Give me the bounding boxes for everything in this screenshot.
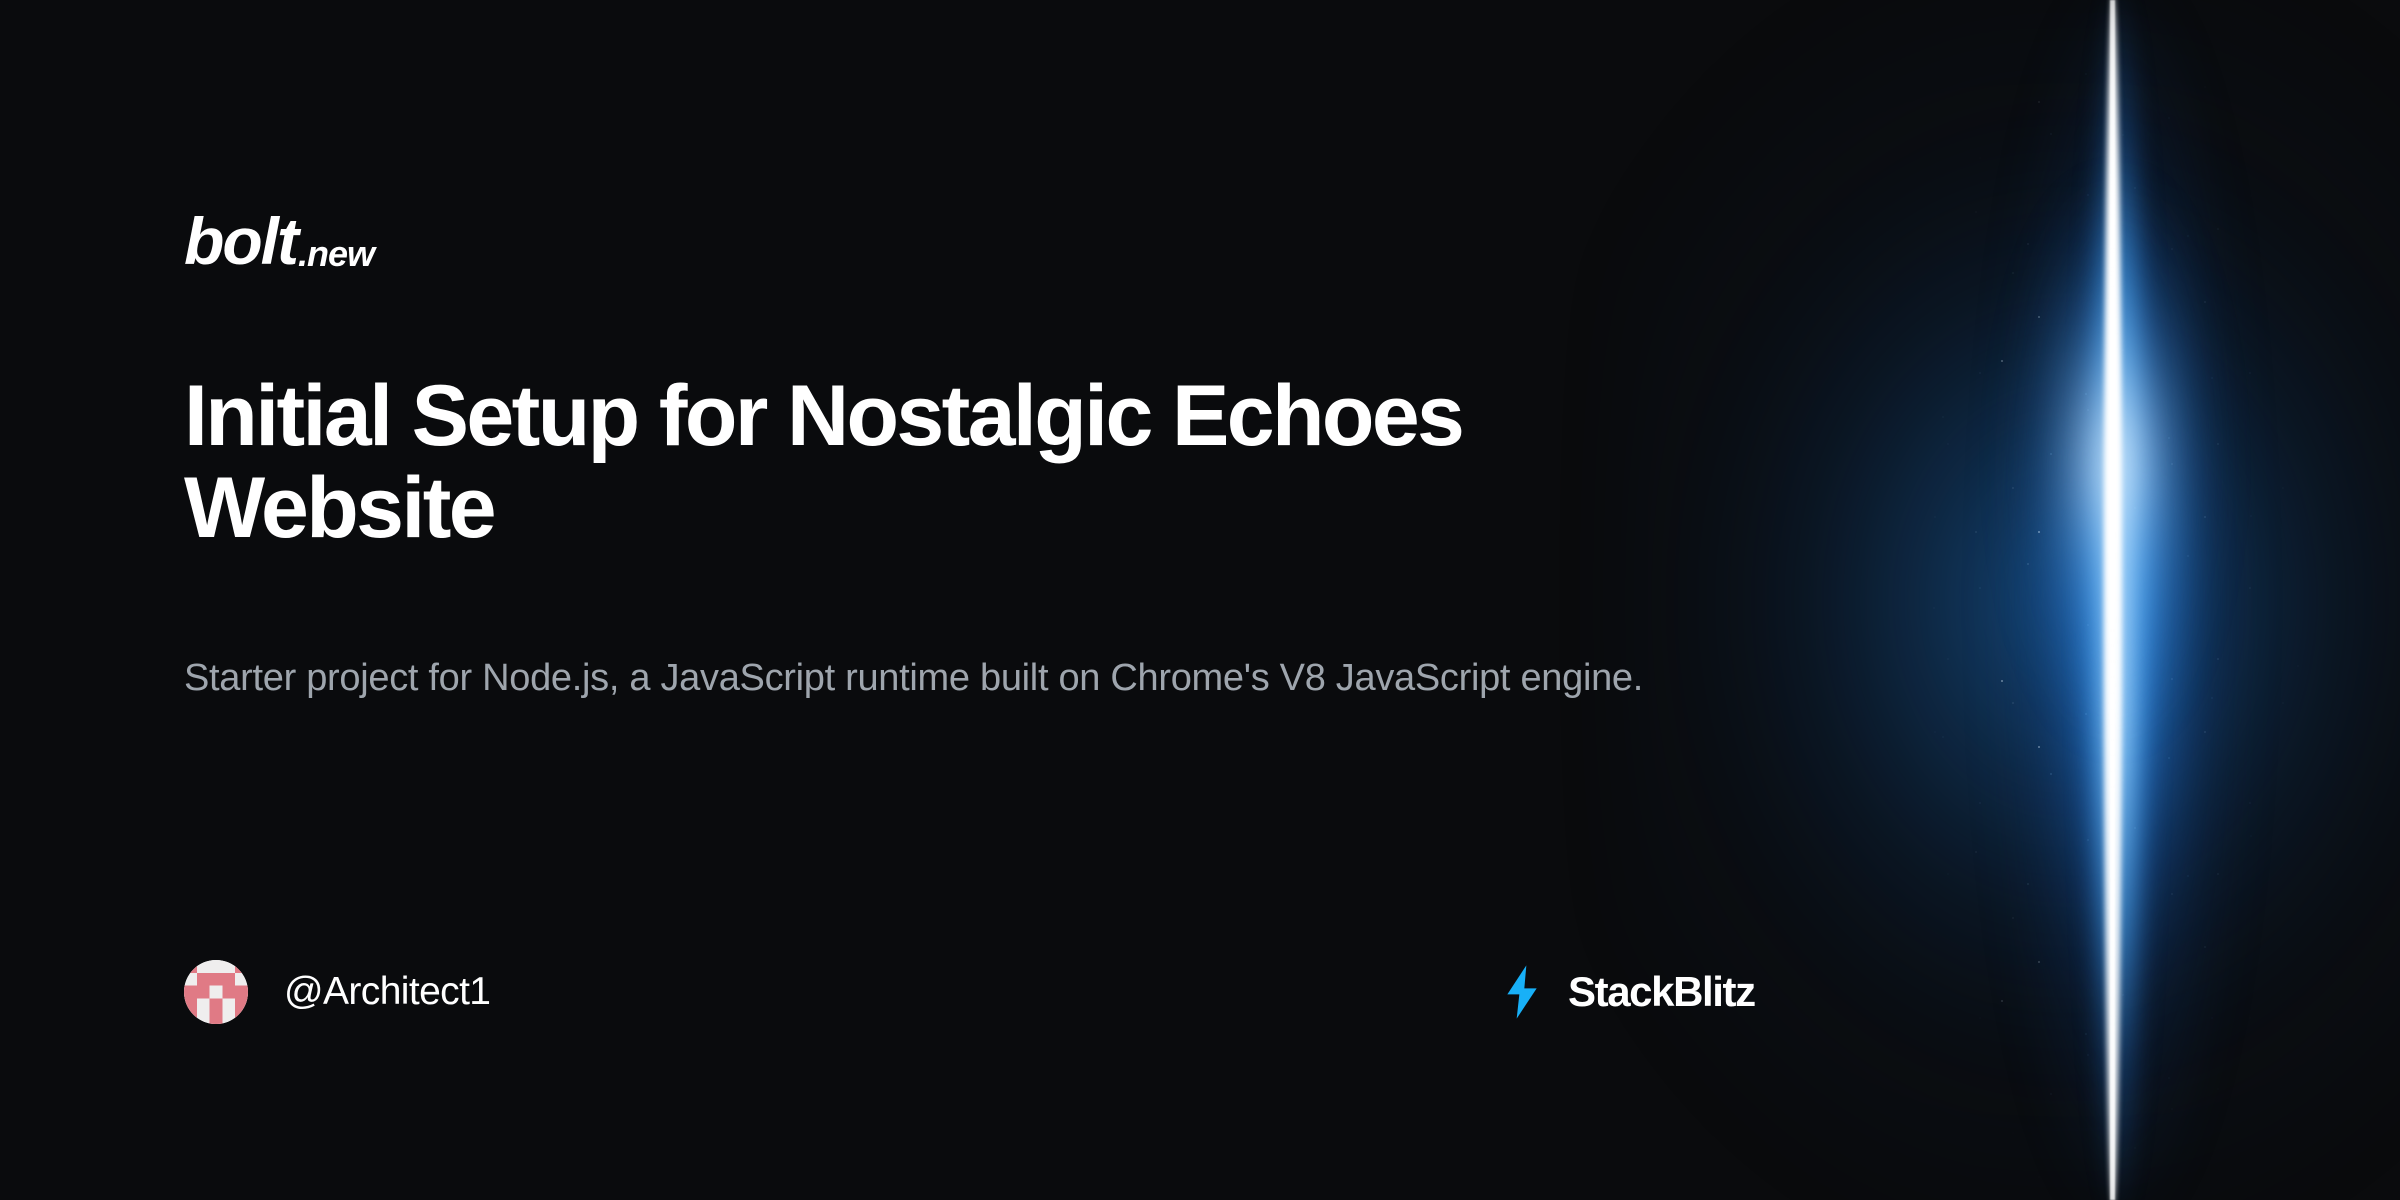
og-card: bolt .new Initial Setup for Nostalgic Ec…	[0, 0, 2400, 1200]
stackblitz-brand[interactable]: StackBlitz	[1502, 964, 1755, 1020]
logo-wordmark: bolt	[184, 208, 297, 274]
card-content: bolt .new Initial Setup for Nostalgic Ec…	[0, 0, 2400, 1200]
logo-suffix: .new	[298, 236, 374, 274]
brand-name: StackBlitz	[1568, 968, 1755, 1016]
author-handle: @Architect1	[284, 970, 490, 1014]
identicon-avatar	[184, 960, 248, 1024]
page-title: Initial Setup for Nostalgic Echoes Websi…	[184, 370, 1664, 554]
lightning-bolt-icon	[1502, 964, 1542, 1020]
page-subtitle: Starter project for Node.js, a JavaScrip…	[184, 652, 1794, 706]
bolt-new-logo[interactable]: bolt .new	[184, 208, 374, 274]
author-block[interactable]: @Architect1	[184, 960, 490, 1024]
card-footer: @Architect1 StackBlitz	[184, 960, 1220, 1040]
